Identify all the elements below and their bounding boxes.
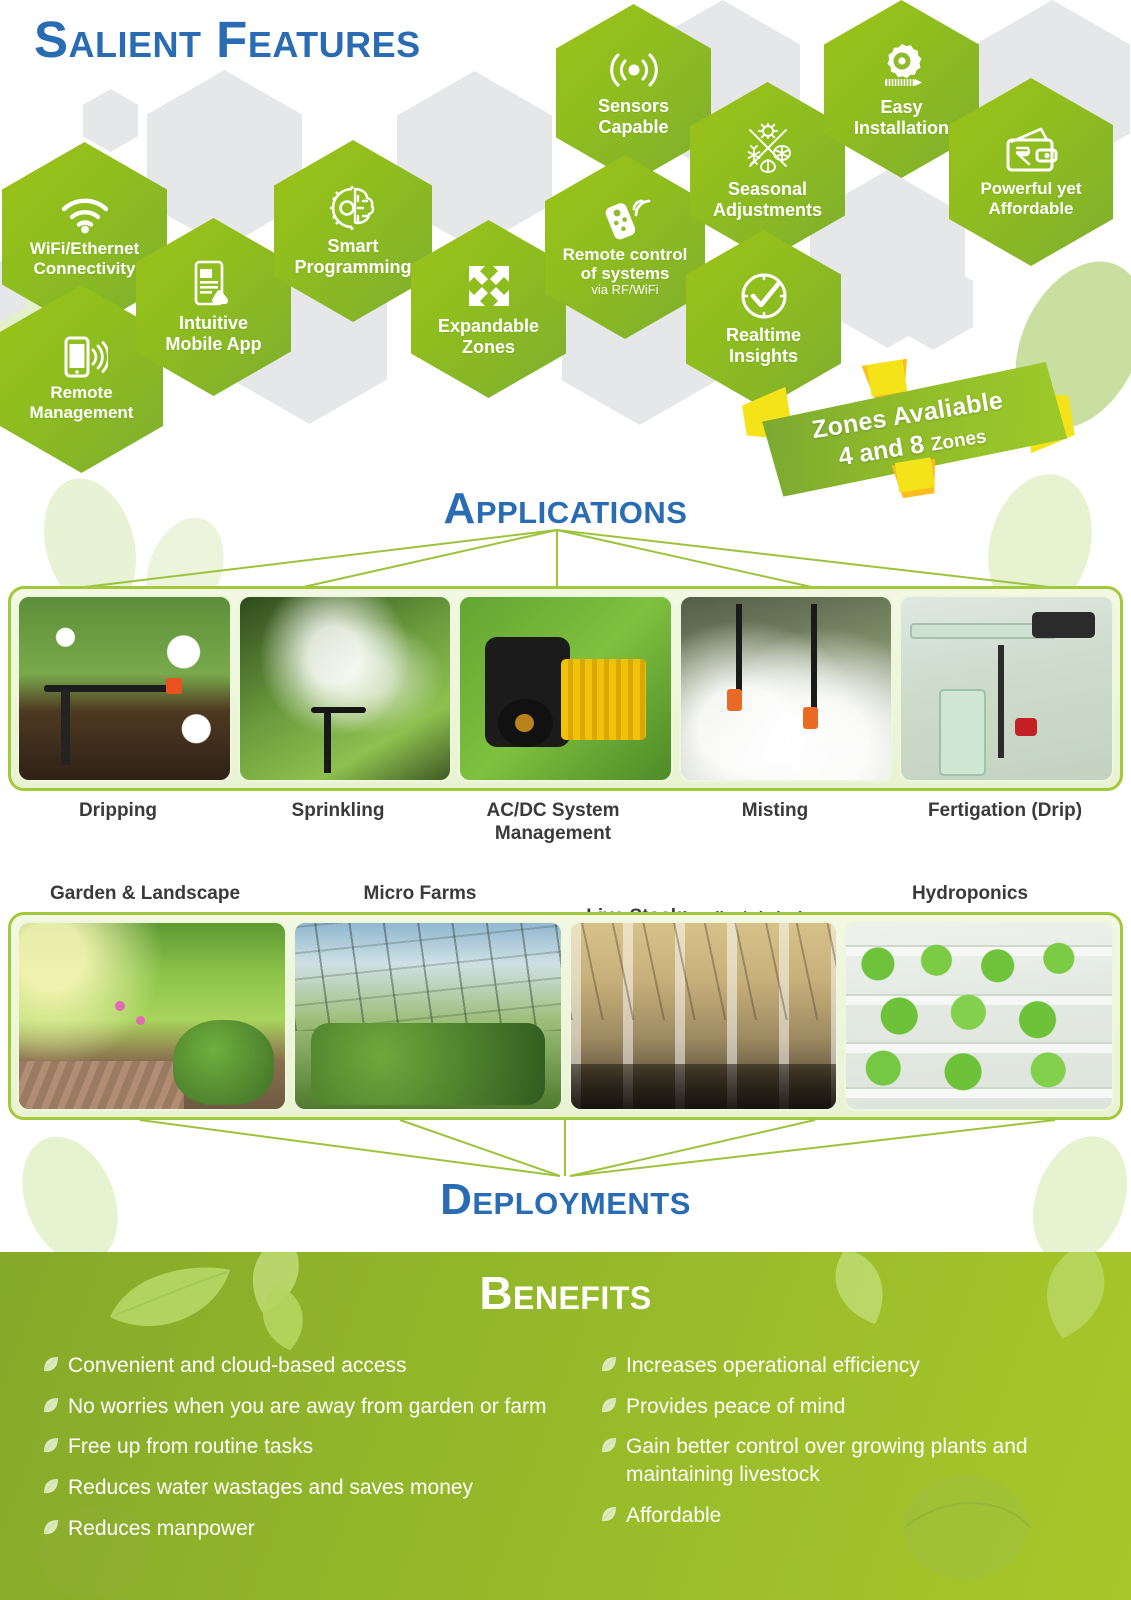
app-image-dripping: [17, 595, 232, 782]
wifi-icon: [60, 196, 110, 234]
app-image-sprinkling: [238, 595, 453, 782]
feature-label: Expandable Zones: [432, 316, 545, 356]
feature-hex-expandable-zones[interactable]: Expandable Zones: [411, 220, 566, 398]
leaf-bullet-icon: [42, 1478, 59, 1500]
hex-bg-decoration: [893, 258, 973, 350]
leaf-bullet-icon: [42, 1519, 59, 1541]
benefit-item: Affordable: [600, 1502, 1110, 1530]
benefit-item: Reduces manpower: [42, 1515, 602, 1543]
section-title-benefits: Benefits: [0, 1266, 1131, 1320]
clock-check-icon: [740, 272, 788, 320]
benefit-text: Increases operational efficiency: [626, 1352, 920, 1380]
benefit-item: Reduces water wastages and saves money: [42, 1474, 602, 1502]
benefit-item: Convenient and cloud-based access: [42, 1352, 602, 1380]
leaf-bullet-icon: [600, 1506, 617, 1528]
feature-hex-smart-programming[interactable]: Smart Programming: [274, 140, 432, 322]
benefit-text: Reduces manpower: [68, 1515, 255, 1543]
infographic-page: Salient Features: [0, 0, 1131, 1600]
page-title-salient-features: Salient Features: [34, 10, 421, 69]
dep-caption-garden: Garden & Landscape: [20, 883, 270, 906]
gear-screw-icon: [876, 40, 928, 92]
feature-label: Intuitive Mobile App: [159, 313, 267, 353]
dep-image-live-stock: [569, 921, 839, 1111]
feature-hex-powerful-affordable[interactable]: Powerful yet Affordable: [949, 78, 1113, 266]
benefit-text: No worries when you are away from garden…: [68, 1393, 547, 1421]
benefit-text: Provides peace of mind: [626, 1393, 845, 1421]
feature-sublabel: via RF/WiFi: [585, 283, 664, 298]
seasons-icon: [742, 122, 794, 174]
benefits-column-left: Convenient and cloud-based access No wor…: [42, 1352, 602, 1556]
leaf-bullet-icon: [42, 1397, 59, 1419]
benefit-text: Convenient and cloud-based access: [68, 1352, 407, 1380]
leaf-bullet-icon: [600, 1437, 617, 1459]
applications-connector-lines: [0, 528, 1131, 593]
app-image-misting: [679, 595, 894, 782]
deployments-connector-lines: [0, 1118, 1131, 1180]
feature-label: Realtime Insights: [720, 325, 807, 365]
sensor-waves-icon: [607, 49, 661, 91]
wallet-rupee-icon: [1003, 126, 1059, 174]
app-caption-acdc: AC/DC System Management: [443, 800, 663, 846]
app-caption-dripping: Dripping: [8, 800, 228, 823]
phone-signal-icon: [56, 336, 108, 378]
feature-label: Seasonal Adjustments: [707, 179, 828, 219]
app-image-fertigation: [899, 595, 1114, 782]
app-image-acdc-pump: [458, 595, 673, 782]
zones-available-ribbon: Zones Avaliable 4 and 8 Zones: [742, 362, 1078, 500]
app-caption-sprinkling: Sprinkling: [228, 800, 448, 823]
leaf-bullet-icon: [600, 1356, 617, 1378]
expand-arrows-icon: [464, 261, 514, 311]
benefit-item: Free up from routine tasks: [42, 1433, 602, 1461]
applications-image-strip: [8, 586, 1123, 791]
section-title-deployments: Deployments: [0, 1175, 1131, 1225]
feature-label: Powerful yet Affordable: [974, 179, 1087, 217]
benefit-text: Gain better control over growing plants …: [626, 1433, 1110, 1488]
feature-label: WiFi/Ethernet Connectivity: [24, 239, 145, 277]
app-caption-fertigation: Fertigation (Drip): [890, 800, 1120, 823]
dep-image-hydroponics: [844, 921, 1114, 1111]
benefit-item: Provides peace of mind: [600, 1393, 1110, 1421]
feature-label: Remote Management: [24, 383, 140, 421]
feature-label: Sensors Capable: [592, 96, 675, 136]
feature-hex-remote-control[interactable]: Remote control of systems via RF/WiFi: [545, 155, 705, 339]
leaf-bullet-icon: [42, 1356, 59, 1378]
dep-image-garden-landscape: [17, 921, 287, 1111]
dep-caption-hydroponics: Hydroponics: [855, 883, 1085, 906]
gear-brain-icon: [327, 185, 379, 231]
dep-caption-micro-farms: Micro Farms: [305, 883, 535, 906]
mobile-app-icon: [192, 260, 236, 308]
benefit-text: Reduces water wastages and saves money: [68, 1474, 473, 1502]
benefit-item: Gain better control over growing plants …: [600, 1433, 1110, 1488]
feature-hex-intuitive-mobile-app[interactable]: Intuitive Mobile App: [136, 218, 291, 396]
feature-label: Easy Installation: [848, 97, 955, 137]
feature-label: Remote control of systems: [557, 245, 694, 283]
leaf-bullet-icon: [42, 1437, 59, 1459]
remote-control-icon: [599, 196, 651, 240]
leaf-bullet-icon: [600, 1397, 617, 1419]
benefits-column-right: Increases operational efficiency Provide…: [600, 1352, 1110, 1543]
benefits-section: Benefits Convenient and cloud-based acce…: [0, 1252, 1131, 1600]
benefit-item: No worries when you are away from garden…: [42, 1393, 602, 1421]
deployments-image-strip: [8, 912, 1123, 1120]
dep-image-micro-farms: [293, 921, 563, 1111]
section-title-applications: Applications: [0, 484, 1131, 534]
app-caption-misting: Misting: [665, 800, 885, 823]
benefit-text: Free up from routine tasks: [68, 1433, 313, 1461]
feature-label: Smart Programming: [288, 236, 417, 276]
benefit-item: Increases operational efficiency: [600, 1352, 1110, 1380]
benefit-text: Affordable: [626, 1502, 721, 1530]
